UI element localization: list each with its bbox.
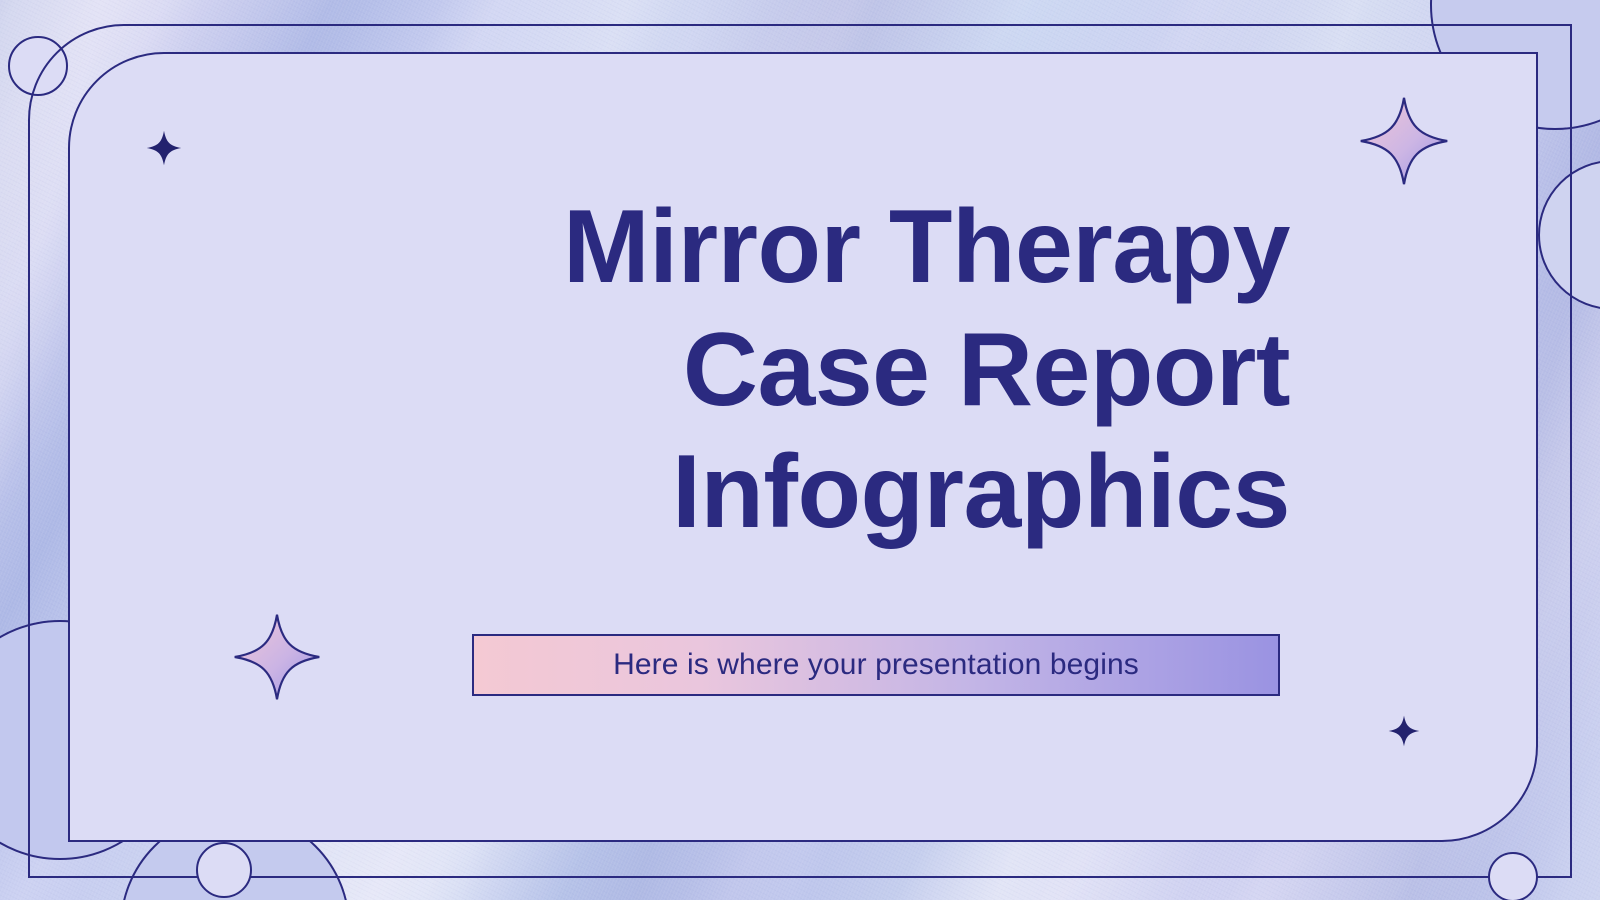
- title-line-3: Infographics: [170, 431, 1290, 554]
- star-small-top-left-icon: [146, 130, 182, 166]
- star-gradient-bottom-left-icon: [232, 612, 322, 702]
- title-line-1: Mirror Therapy: [170, 186, 1290, 309]
- title-line-2: Case Report: [170, 309, 1290, 432]
- subtitle-text: Here is where your presentation begins: [613, 648, 1139, 682]
- star-small-bottom-right-icon: [1388, 715, 1420, 747]
- slide-title: Mirror Therapy Case Report Infographics: [170, 186, 1290, 554]
- slide-canvas: Mirror Therapy Case Report Infographics …: [0, 0, 1600, 900]
- star-gradient-top-right-icon: [1358, 95, 1450, 187]
- circle-bottom-right: [1488, 852, 1538, 900]
- circle-bottom-left: [196, 842, 252, 898]
- circle-top-left: [8, 36, 68, 96]
- subtitle-band: Here is where your presentation begins: [472, 634, 1280, 696]
